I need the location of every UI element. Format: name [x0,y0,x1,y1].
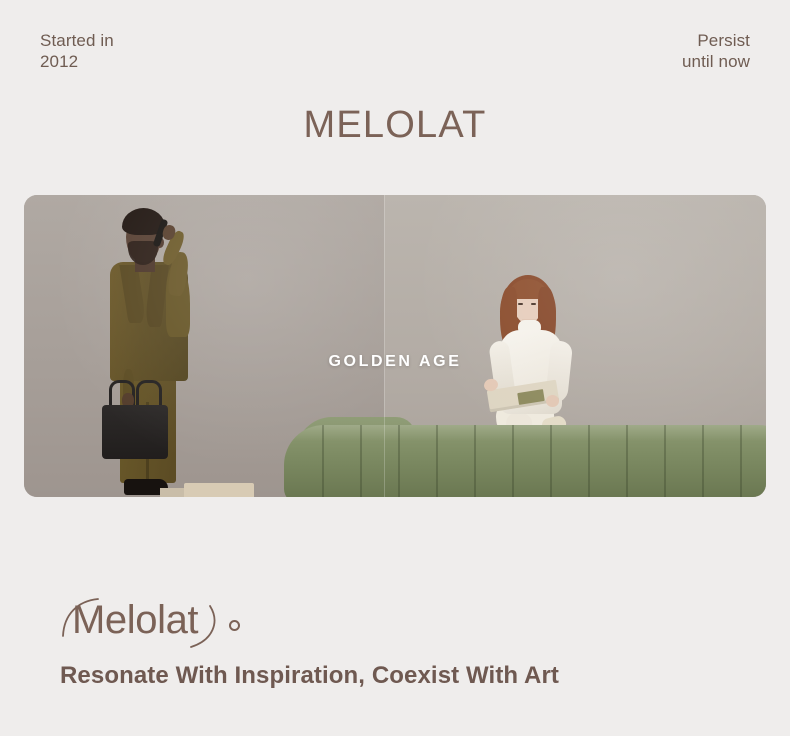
bench-channel [512,425,514,497]
briefcase [102,405,168,459]
meta-row: Started in 2012 Persist until now [40,30,750,86]
floor-object-small [160,488,186,497]
bench-channel [360,425,362,497]
bench-channel [398,425,400,497]
woman-hand-right [546,395,559,407]
floor-object-cream [184,483,254,497]
woman-eye-left [518,303,523,305]
bench-channel [474,425,476,497]
brand-banner-page: Started in 2012 Persist until now MELOLA… [0,0,790,736]
started-in-label: Started in 2012 [40,30,114,72]
bench-channel [740,425,742,497]
brand-title: MELOLAT [0,103,790,147]
logo-circle-icon [229,620,240,631]
bench-channel [626,425,628,497]
man-figure [86,197,218,497]
bench-highlight [284,425,766,441]
photo-seam-divider [384,195,385,497]
bench-channel [550,425,552,497]
woman-eye-right [531,303,536,305]
persist-until-now-label: Persist until now [682,30,750,72]
bench-channel [664,425,666,497]
logo-wordmark: Melolat [72,596,198,644]
hero-image-panel[interactable]: GOLDEN AGE [24,195,766,497]
bench-channel [702,425,704,497]
bench-channel [322,425,324,497]
bench-channel [588,425,590,497]
logo-lockup[interactable]: Melolat [60,596,360,652]
golden-age-overlay-label: GOLDEN AGE [24,353,766,371]
brand-tagline: Resonate With Inspiration, Coexist With … [60,661,559,691]
green-bench [284,425,766,497]
bench-channel [436,425,438,497]
